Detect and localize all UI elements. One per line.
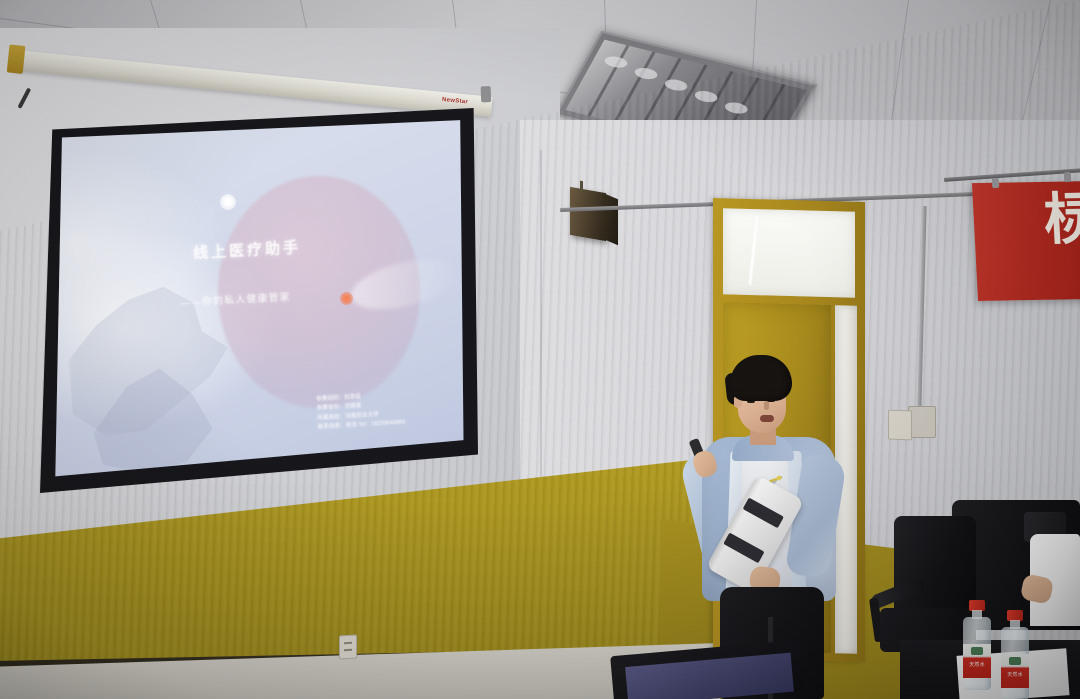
presenter-nose xyxy=(764,401,769,410)
bottle-label: 天然水 xyxy=(1001,654,1029,688)
light-switch-plate[interactable] xyxy=(888,410,912,441)
paper-print-band-top xyxy=(743,497,784,528)
bottle-label: 天然水 xyxy=(963,644,991,678)
water-bottle-left: 天然水 xyxy=(962,600,992,690)
slide-white-dot-icon xyxy=(220,194,236,210)
roller-brand-label: NewStar xyxy=(442,97,469,106)
banner-character: 棂 xyxy=(1042,191,1080,248)
red-banner: 棂 xyxy=(972,181,1080,301)
transom-glare xyxy=(748,216,758,285)
classroom-photo: NewStar 线上医疗助手 ——你的私人健康管家 参赛组别：创意组 参赛省份：… xyxy=(0,0,1080,699)
slide-info-block: 参赛组别：创意组 参赛省份：河南省 所属高校：河南农业大学 联系信息：徐浩 Te… xyxy=(316,391,406,434)
slide-orange-dot-icon xyxy=(340,292,353,305)
presenter-hair xyxy=(730,355,792,401)
bottle-label-text: 天然水 xyxy=(965,661,989,668)
roller-bracket-left xyxy=(7,44,26,73)
bottle-label-logo-icon xyxy=(971,647,983,655)
roller-end-cap xyxy=(481,86,492,102)
power-outlet[interactable] xyxy=(339,635,357,660)
door-transom-window xyxy=(723,208,855,297)
projected-slide: 线上医疗助手 ——你的私人健康管家 参赛组别：创意组 参赛省份：河南省 所属高校… xyxy=(52,118,466,480)
water-bottle-right: 天然水 xyxy=(1000,610,1030,699)
banner-clip-right xyxy=(1064,172,1072,182)
speaker-bracket xyxy=(580,181,583,192)
bottle-label-logo-icon xyxy=(1009,657,1021,665)
chair-backrest xyxy=(894,516,976,612)
bottle-label-text: 天然水 xyxy=(1003,671,1027,678)
junction-box xyxy=(908,406,936,438)
presenter-mouth xyxy=(760,415,774,422)
speaker-side-panel xyxy=(602,192,618,245)
banner-clip-left xyxy=(992,178,1000,188)
paper-print-band-bottom xyxy=(723,532,764,563)
wall-speaker xyxy=(570,187,606,241)
